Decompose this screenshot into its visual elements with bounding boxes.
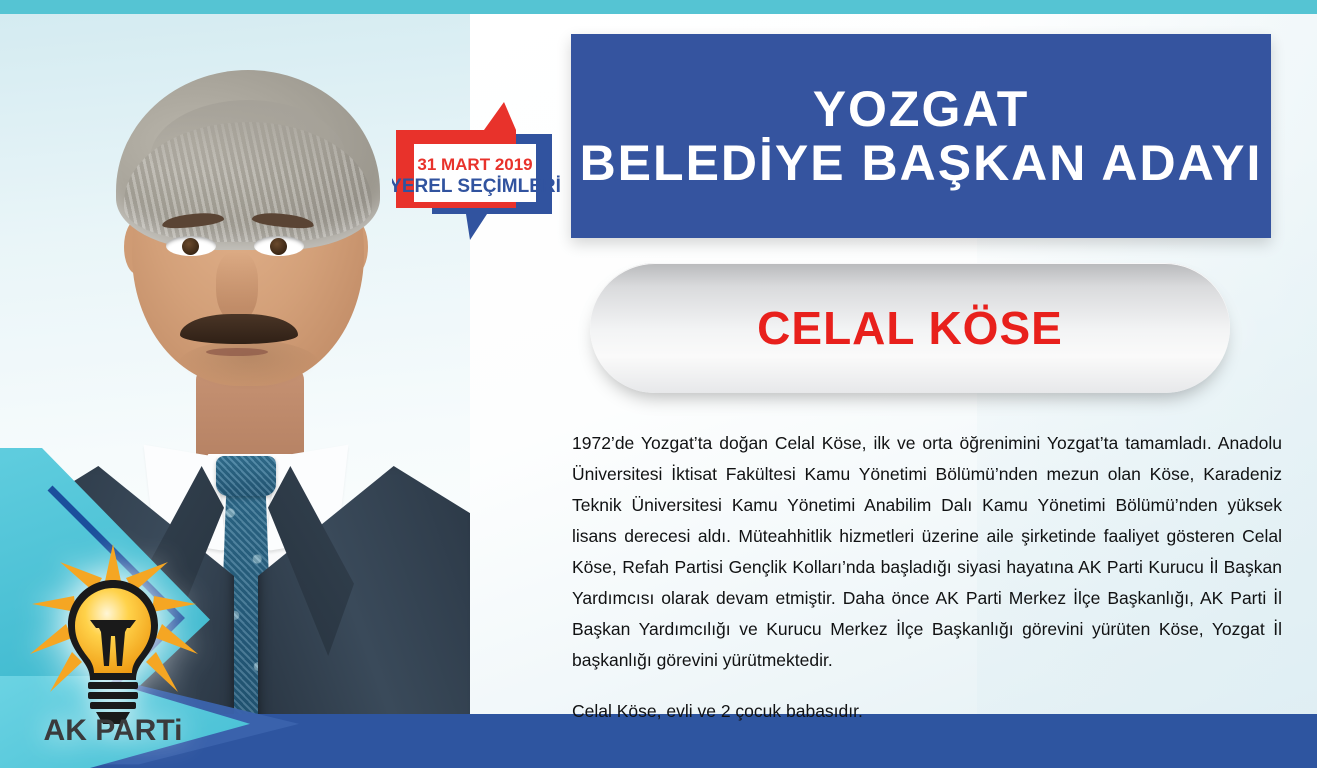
banner-title-line2: BELEDİYE BAŞKAN ADAYI bbox=[580, 136, 1263, 190]
candidate-name-text: CELAL KÖSE bbox=[757, 301, 1063, 355]
lightbulb-glass-icon bbox=[68, 580, 158, 680]
top-accent-strip bbox=[0, 0, 1317, 14]
nose-shape bbox=[216, 252, 258, 322]
candidate-name-badge: CELAL KÖSE bbox=[590, 263, 1230, 393]
election-date-text: 31 MART 2019 bbox=[417, 155, 532, 174]
mustache-shape bbox=[180, 314, 298, 344]
eye-left bbox=[166, 236, 216, 256]
campaign-poster: AK PARTi 31 MART 2019 YEREL SEÇİMLERİ YO… bbox=[0, 0, 1317, 768]
biography-paragraph-1: 1972’de Yozgat’ta doğan Celal Köse, ilk … bbox=[572, 428, 1282, 676]
biography-paragraph-2: Celal Köse, evli ve 2 çocuk babasıdır. bbox=[572, 696, 1282, 727]
biography-block: 1972’de Yozgat’ta doğan Celal Köse, ilk … bbox=[572, 428, 1282, 727]
election-logo: 31 MART 2019 YEREL SEÇİMLERİ bbox=[392, 100, 560, 242]
eye-right bbox=[254, 236, 304, 256]
ak-parti-logo: AK PARTi bbox=[18, 542, 208, 742]
banner-title-line1: YOZGAT bbox=[813, 82, 1030, 136]
header-banner: YOZGAT BELEDİYE BAŞKAN ADAYI bbox=[571, 34, 1271, 238]
necktie-knot bbox=[216, 456, 276, 496]
ak-parti-label: AK PARTi bbox=[44, 714, 183, 742]
mouth-shape bbox=[206, 348, 268, 356]
election-name-text: YEREL SEÇİMLERİ bbox=[392, 176, 560, 197]
